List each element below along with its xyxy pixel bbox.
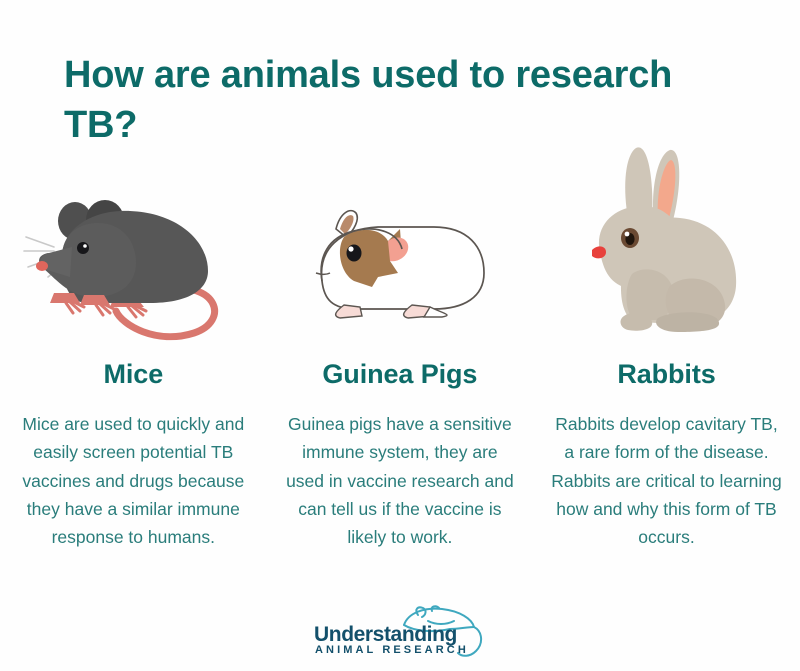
brand-logo: Understanding ANIMAL RESEARCH — [0, 607, 800, 659]
infographic-page: How are animals used to research TB? — [0, 0, 800, 671]
logo-subtitle: ANIMAL RESEARCH — [315, 644, 469, 656]
column-guinea-pigs: Guinea Pigs Guinea pigs have a sensitive… — [267, 140, 534, 552]
rabbit-illustration — [541, 140, 791, 345]
column-heading-guinea-pigs: Guinea Pigs — [322, 359, 477, 390]
column-mice: Mice Mice are used to quickly and easily… — [0, 140, 267, 552]
column-body-guinea-pigs: Guinea pigs have a sensitive immune syst… — [284, 410, 516, 552]
column-rabbits: Rabbits Rabbits develop cavitary TB, a r… — [533, 140, 800, 552]
column-heading-rabbits: Rabbits — [617, 359, 715, 390]
column-body-mice: Mice are used to quickly and easily scre… — [17, 410, 249, 552]
page-title: How are animals used to research TB? — [64, 50, 724, 150]
guinea-pig-illustration — [275, 140, 525, 345]
animal-columns: Mice Mice are used to quickly and easily… — [0, 140, 800, 552]
mouse-illustration — [8, 140, 258, 345]
column-heading-mice: Mice — [103, 359, 163, 390]
column-body-rabbits: Rabbits develop cavitary TB, a rare form… — [550, 410, 782, 552]
